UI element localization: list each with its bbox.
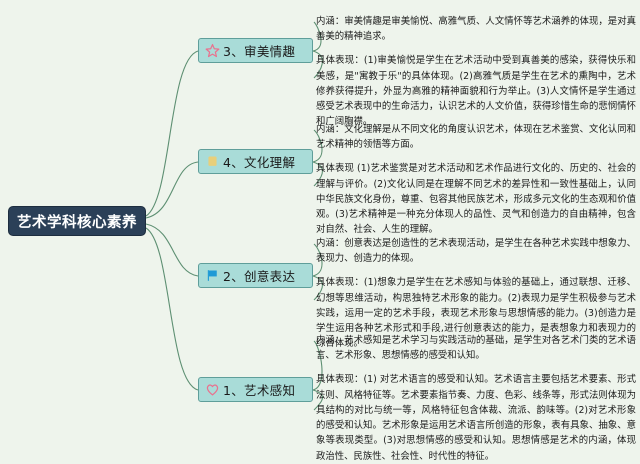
branch-node-culture[interactable]: 4、文化理解 [198, 149, 313, 174]
branch-label-aesthetic: 3、审美情趣 [223, 41, 295, 60]
detail-block-perception: 内涵：艺术感知是艺术学习与实践活动的基础，是学生对各艺术门类的艺术语言、艺术形象… [316, 333, 636, 464]
manifestation-text-culture: 具体表现 (1)艺术鉴赏是对艺术活动和艺术作品进行文化的、历史的、社会的理解与评… [316, 161, 636, 237]
flag-yellow-icon [204, 154, 220, 170]
detail-block-aesthetic: 内涵：审美情趣是审美愉悦、高雅气质、人文情怀等艺术涵养的体现，是对真善美的精神追… [316, 14, 636, 130]
heart-icon [204, 382, 220, 398]
connector-root-to-perception [146, 228, 198, 390]
manifestation-text-perception: 具体表现：(1) 对艺术语言的感受和认知。艺术语言主要包括艺术要素、形式法则、风… [316, 372, 636, 463]
connotation-text-creative: 内涵：创意表达是创造性的艺术表现活动，是学生在各种艺术实践中想象力、表现力、创造… [316, 236, 636, 266]
branch-node-perception[interactable]: 1、艺术感知 [198, 377, 313, 402]
connector-root-to-aesthetic [146, 51, 198, 216]
connotation-text-culture: 内涵：文化理解是从不同文化的角度认识艺术，体现在艺术鉴赏、文化认同和艺术精神的领… [316, 122, 636, 152]
connotation-text-aesthetic: 内涵：审美情趣是审美愉悦、高雅气质、人文情怀等艺术涵养的体现，是对真善美的精神追… [316, 14, 636, 44]
branch-label-creative: 2、创意表达 [223, 266, 295, 285]
manifestation-text-aesthetic: 具体表现：(1)审美愉悦是学生在艺术活动中受到真善美的感染，获得快乐和美感，是"… [316, 53, 636, 129]
star-icon [204, 43, 220, 59]
connector-root-to-culture [146, 162, 198, 218]
branch-node-creative[interactable]: 2、创意表达 [198, 263, 313, 288]
root-node[interactable]: 艺术学科核心素养 [8, 206, 146, 236]
branch-label-perception: 1、艺术感知 [223, 380, 295, 399]
flag-blue-icon [204, 268, 220, 284]
mindmap-canvas: 艺术学科核心素养 3、审美情趣 4、文化理解 2、创意表达 [0, 0, 640, 448]
branch-node-aesthetic[interactable]: 3、审美情趣 [198, 38, 313, 63]
root-node-label: 艺术学科核心素养 [17, 211, 137, 232]
detail-block-culture: 内涵：文化理解是从不同文化的角度认识艺术，体现在艺术鉴赏、文化认同和艺术精神的领… [316, 122, 636, 238]
branch-label-culture: 4、文化理解 [223, 152, 295, 171]
connotation-text-perception: 内涵：艺术感知是艺术学习与实践活动的基础，是学生对各艺术门类的艺术语言、艺术形象… [316, 333, 636, 363]
connector-root-to-creative [146, 224, 198, 276]
